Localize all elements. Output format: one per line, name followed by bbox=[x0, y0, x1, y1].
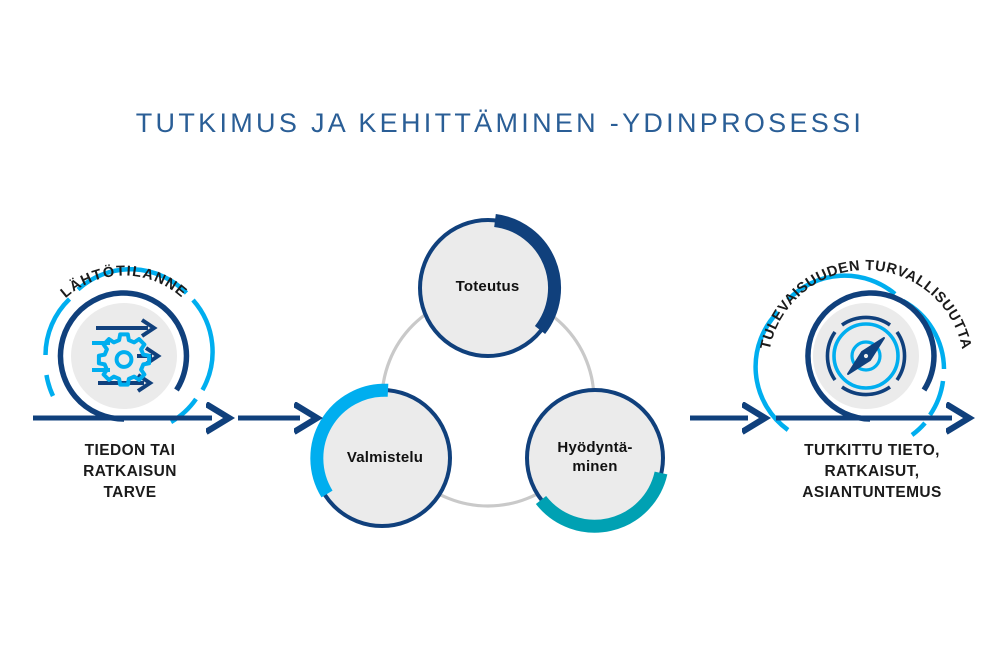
start-caption-line: TARVE bbox=[20, 482, 240, 503]
node-label-line: Toteutus bbox=[425, 277, 550, 296]
start-caption: TIEDON TAI RATKAISUN TARVE bbox=[20, 440, 240, 503]
end-caption-line: RATKAISUT, bbox=[762, 461, 982, 482]
compass-center-pin bbox=[863, 353, 870, 360]
end-caption-line: TUTKITTU TIETO, bbox=[762, 440, 982, 461]
end-caption-line: ASIANTUNTEMUS bbox=[762, 482, 982, 503]
start-caption-line: TIEDON TAI bbox=[20, 440, 240, 461]
diagram-graphics: LÄHTÖTILANNE bbox=[0, 0, 1000, 667]
end-icon-group: TULEVAISUUDEN TURVALLISUUTTA bbox=[756, 258, 975, 435]
infographic-canvas: TUTKIMUS JA KEHITTÄMINEN -YDINPROSESSI bbox=[0, 0, 1000, 667]
node-label-line: Hyödyntä- bbox=[530, 438, 660, 457]
cycle-node-label-valmistelu: Valmistelu bbox=[320, 448, 450, 467]
cycle-node-label-hyodyntaminen: Hyödyntä- minen bbox=[530, 438, 660, 476]
cycle-node-label-toteutus: Toteutus bbox=[425, 277, 550, 296]
end-caption: TUTKITTU TIETO, RATKAISUT, ASIANTUNTEMUS bbox=[762, 440, 982, 503]
node-label-line: Valmistelu bbox=[320, 448, 450, 467]
cycle-group bbox=[314, 220, 663, 526]
start-icon-group: LÄHTÖTILANNE bbox=[44, 263, 213, 422]
node-label-line: minen bbox=[530, 457, 660, 476]
start-caption-line: RATKAISUN bbox=[20, 461, 240, 482]
